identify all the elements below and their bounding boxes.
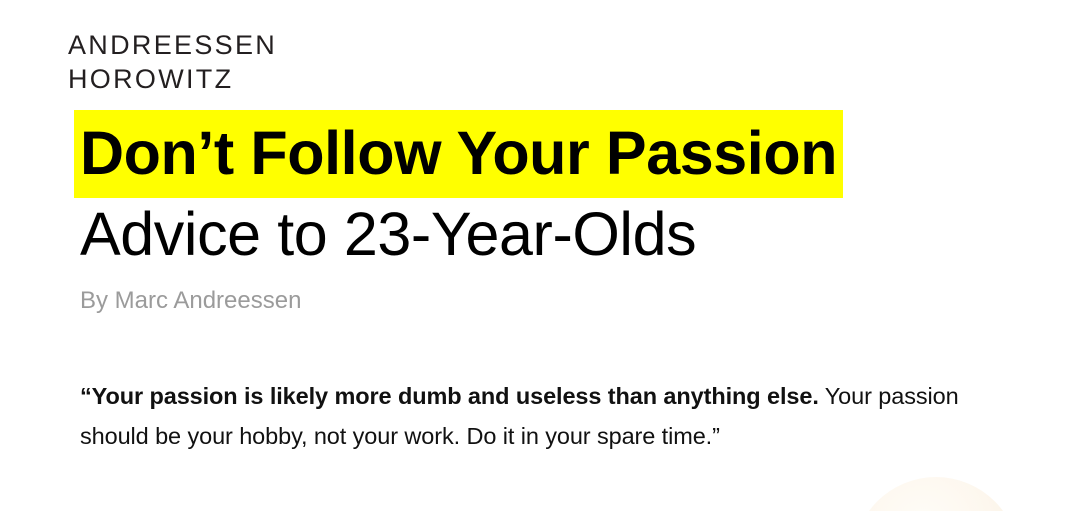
article-page: ANDREESSEN HOROWITZ Don’t Follow Your Pa… — [0, 0, 1080, 511]
article-headline: Don’t Follow Your Passion — [80, 118, 1040, 198]
logo-line-2: HOROWITZ — [68, 62, 277, 96]
pull-quote-bold-segment: “Your passion is likely more dumb and us… — [80, 383, 819, 409]
article-byline: By Marc Andreessen — [80, 286, 301, 316]
article-subheadline: Advice to 23-Year-Olds — [80, 198, 1040, 284]
article-title-block: Don’t Follow Your Passion Advice to 23-Y… — [80, 118, 1040, 284]
andreessen-horowitz-logo[interactable]: ANDREESSEN HOROWITZ — [68, 28, 277, 96]
article-pull-quote: “Your passion is likely more dumb and us… — [80, 376, 985, 456]
logo-line-1: ANDREESSEN — [68, 28, 277, 62]
headline-highlighted-text: Don’t Follow Your Passion — [74, 110, 843, 198]
subheadline-text: Advice to 23-Year-Olds — [80, 200, 696, 268]
